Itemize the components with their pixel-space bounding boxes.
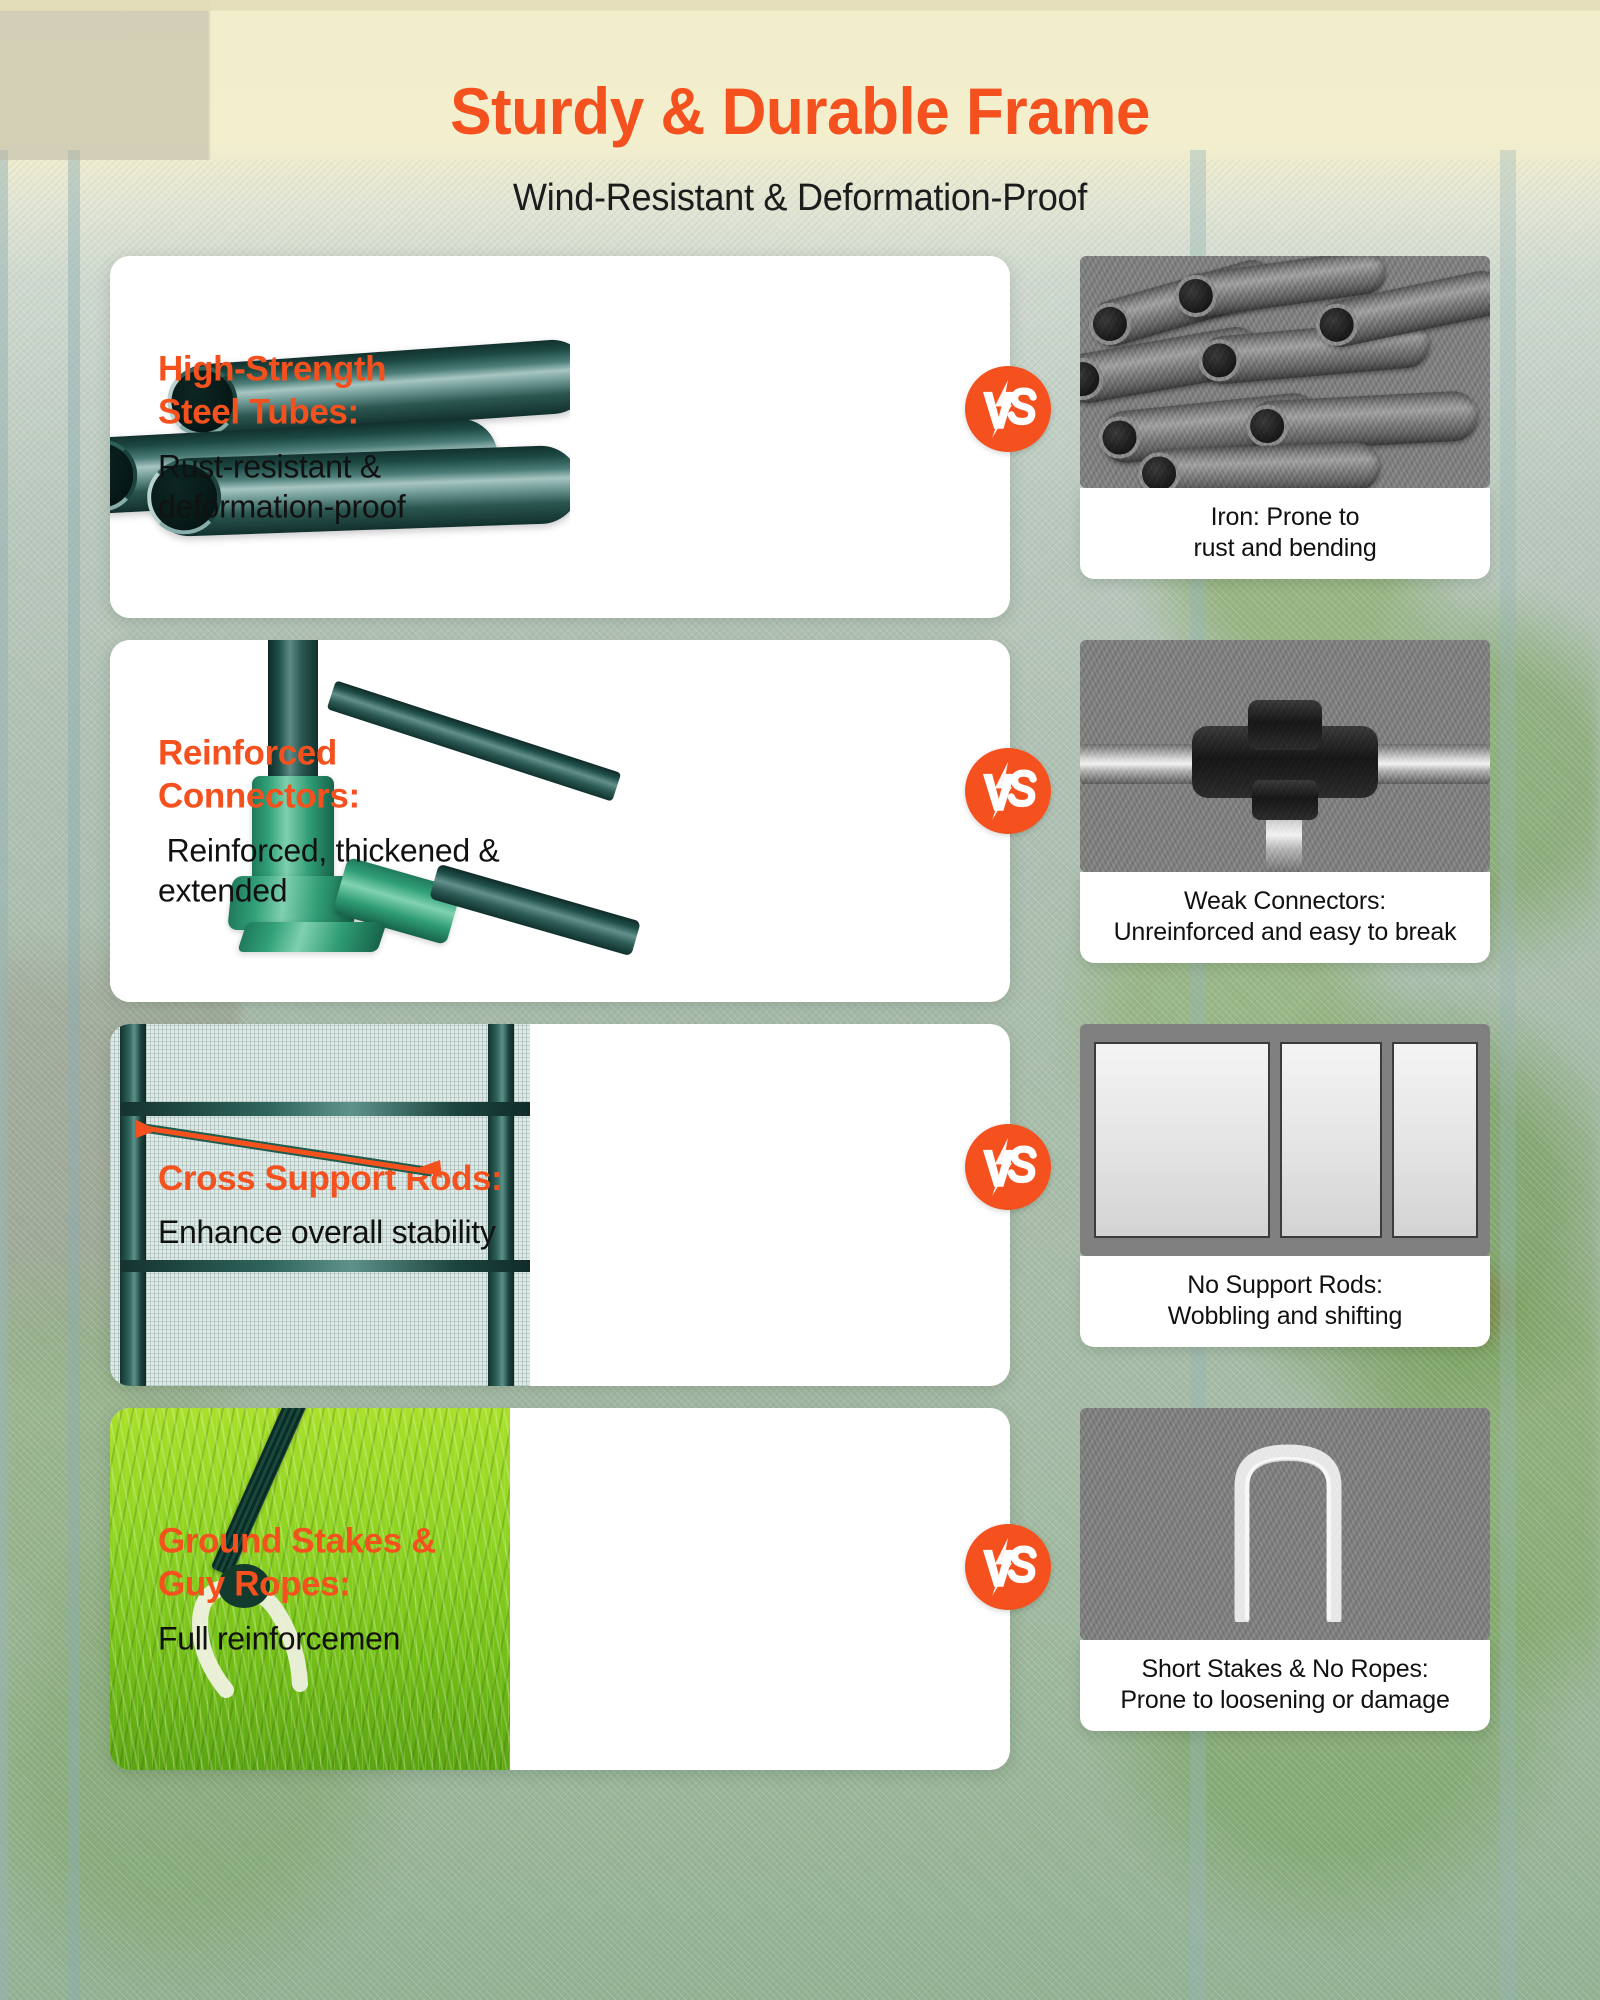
- vs-lightning-icon: [975, 1134, 1041, 1200]
- card-text: High-Strength Steel Tubes: Rust-resistan…: [158, 347, 588, 526]
- comparison-caption: Iron: Prone to rust and bending: [1080, 488, 1490, 579]
- comparison-caption: No Support Rods: Wobbling and shifting: [1080, 1256, 1490, 1347]
- infographic-page: Sturdy & Durable Frame Wind-Resistant & …: [0, 0, 1600, 2000]
- connector-foot: [237, 922, 387, 952]
- card-title: Ground Stakes & Guy Ropes:: [158, 1519, 588, 1606]
- feature-card-list: High-Strength Steel Tubes: Rust-resistan…: [0, 256, 1600, 1770]
- feature-card-steel-tubes: High-Strength Steel Tubes: Rust-resistan…: [110, 256, 1490, 618]
- vs-lightning-icon: [975, 1534, 1041, 1600]
- card-panel: Reinforced Connectors: Reinforced, thick…: [110, 640, 1010, 1002]
- vs-badge: [965, 1524, 1051, 1610]
- vs-badge: [965, 366, 1051, 452]
- black-weak-connector-photo: [1080, 640, 1490, 872]
- comparison-caption: Weak Connectors: Unreinforced and easy t…: [1080, 872, 1490, 963]
- page-title: Sturdy & Durable Frame: [48, 78, 1552, 144]
- card-panel: Ground Stakes & Guy Ropes: Full reinforc…: [110, 1408, 1010, 1770]
- card-panel: High-Strength Steel Tubes: Rust-resistan…: [110, 256, 1010, 618]
- comparison-block: No Support Rods: Wobbling and shifting: [1080, 1024, 1490, 1386]
- card-description: Full reinforcemen: [158, 1618, 588, 1658]
- feature-card-ground-stakes: Ground Stakes & Guy Ropes: Full reinforc…: [110, 1408, 1490, 1770]
- comparison-block: Weak Connectors: Unreinforced and easy t…: [1080, 640, 1490, 1002]
- card-panel: Cross Support Rods: Enhance overall stab…: [110, 1024, 1010, 1386]
- comparison-block: Iron: Prone to rust and bending: [1080, 256, 1490, 618]
- page-subtitle: Wind-Resistant & Deformation-Proof: [40, 177, 1560, 220]
- card-title: Reinforced Connectors:: [158, 731, 588, 818]
- cross-support-rod-arrow: [110, 1112, 530, 1202]
- card-description: Rust-resistant & deformation-proof: [158, 446, 588, 527]
- feature-card-connectors: Reinforced Connectors: Reinforced, thick…: [110, 640, 1490, 1002]
- comparison-block: Short Stakes & No Ropes: Prone to loosen…: [1080, 1408, 1490, 1770]
- card-description: Reinforced, thickened & extended: [158, 830, 588, 911]
- header: Sturdy & Durable Frame Wind-Resistant & …: [0, 0, 1600, 220]
- vs-badge: [965, 1124, 1051, 1210]
- rusty-iron-pipes-photo: [1080, 256, 1490, 488]
- plain-panels-no-support-rods-photo: [1080, 1024, 1490, 1256]
- mesh-rail-bottom: [120, 1260, 530, 1272]
- vs-lightning-icon: [975, 758, 1041, 824]
- vs-lightning-icon: [975, 376, 1041, 442]
- card-text: Ground Stakes & Guy Ropes: Full reinforc…: [158, 1519, 588, 1658]
- short-staple-stake-photo: [1080, 1408, 1490, 1640]
- card-text: Reinforced Connectors: Reinforced, thick…: [158, 731, 588, 910]
- vs-badge: [965, 748, 1051, 834]
- mesh-post-left: [120, 1024, 146, 1386]
- card-description: Enhance overall stability: [158, 1213, 588, 1253]
- card-title: High-Strength Steel Tubes:: [158, 347, 588, 434]
- comparison-caption: Short Stakes & No Ropes: Prone to loosen…: [1080, 1640, 1490, 1731]
- feature-card-cross-support-rods: Cross Support Rods: Enhance overall stab…: [110, 1024, 1490, 1386]
